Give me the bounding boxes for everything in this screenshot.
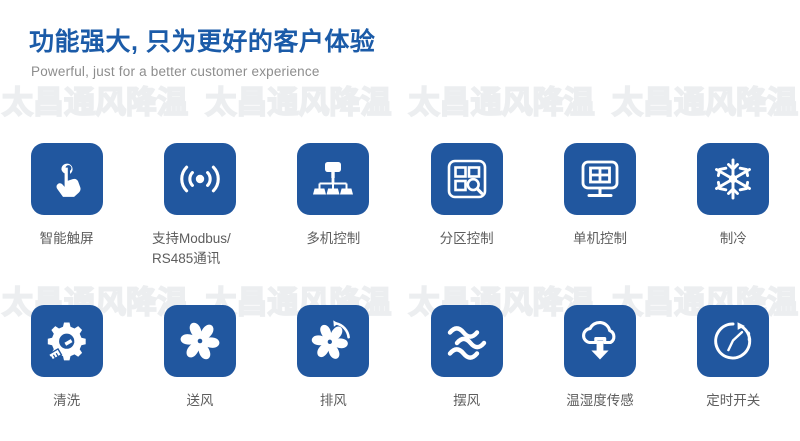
feature-label: 送风 bbox=[140, 391, 260, 411]
feature-tile[interactable] bbox=[164, 143, 236, 215]
feature-label: 单机控制 bbox=[540, 229, 660, 249]
feature-label: 定时开关 bbox=[673, 391, 793, 411]
network-tree-icon bbox=[310, 157, 356, 201]
fan-blades-icon bbox=[176, 317, 224, 365]
feature-item-temp-humidity-sensor[interactable]: 温湿度传感 bbox=[533, 305, 666, 411]
feature-tile[interactable] bbox=[564, 305, 636, 377]
wave-lines-icon bbox=[443, 319, 491, 363]
touch-screen-icon bbox=[44, 156, 90, 202]
feature-tile[interactable] bbox=[31, 305, 103, 377]
feature-label: 支持Modbus/ RS485通讯 bbox=[152, 229, 248, 269]
feature-label-line-2: RS485通讯 bbox=[152, 251, 220, 266]
timer-clock-icon bbox=[709, 317, 757, 365]
feature-item-multi-unit-control[interactable]: 多机控制 bbox=[267, 143, 400, 269]
watermark-text: 太昌通风降温 bbox=[205, 84, 391, 122]
feature-label: 排风 bbox=[273, 391, 393, 411]
feature-item-air-supply[interactable]: 送风 bbox=[133, 305, 266, 411]
feature-label: 多机控制 bbox=[273, 229, 393, 249]
display-monitor-icon bbox=[576, 156, 624, 202]
feature-label: 制冷 bbox=[673, 229, 793, 249]
page-subtitle: Powerful, just for a better customer exp… bbox=[31, 62, 375, 82]
feature-tile[interactable] bbox=[431, 305, 503, 377]
feature-item-timer-switch[interactable]: 定时开关 bbox=[667, 305, 800, 411]
feature-tile[interactable] bbox=[31, 143, 103, 215]
feature-item-zone-control[interactable]: 分区控制 bbox=[400, 143, 533, 269]
watermark-row-top: 太昌通风降温 太昌通风降温 太昌通风降温 太昌通风降温 bbox=[0, 84, 800, 122]
feature-grid-row-2: 清洗 送风 bbox=[0, 305, 800, 411]
zone-grid-search-icon bbox=[443, 155, 491, 203]
feature-tile[interactable] bbox=[297, 305, 369, 377]
feature-label: 摆风 bbox=[407, 391, 527, 411]
feature-item-exhaust[interactable]: 排风 bbox=[267, 305, 400, 411]
page-header: 功能强大, 只为更好的客户体验 Powerful, just for a bet… bbox=[29, 26, 375, 82]
feature-item-touch-screen[interactable]: 智能触屏 bbox=[0, 143, 133, 269]
gear-brush-icon bbox=[43, 317, 91, 365]
feature-highlights-page: 太昌通风降温 太昌通风降温 太昌通风降温 太昌通风降温 太昌通风降温 太昌通风降… bbox=[0, 0, 800, 441]
wireless-signal-icon bbox=[176, 159, 224, 199]
feature-item-swing[interactable]: 摆风 bbox=[400, 305, 533, 411]
feature-tile[interactable] bbox=[564, 143, 636, 215]
exhaust-fan-icon bbox=[309, 317, 357, 365]
page-title: 功能强大, 只为更好的客户体验 bbox=[29, 26, 375, 58]
feature-item-single-unit-control[interactable]: 单机控制 bbox=[533, 143, 666, 269]
feature-tile[interactable] bbox=[697, 143, 769, 215]
feature-tile[interactable] bbox=[164, 305, 236, 377]
feature-item-modbus[interactable]: 支持Modbus/ RS485通讯 bbox=[133, 143, 266, 269]
feature-item-cooling[interactable]: 制冷 bbox=[667, 143, 800, 269]
feature-tile[interactable] bbox=[297, 143, 369, 215]
feature-label: 智能触屏 bbox=[7, 229, 127, 249]
cloud-arrow-down-icon bbox=[576, 318, 624, 364]
snowflake-icon bbox=[709, 155, 757, 203]
watermark-text: 太昌通风降温 bbox=[409, 84, 595, 122]
feature-tile[interactable] bbox=[697, 305, 769, 377]
watermark-text: 太昌通风降温 bbox=[612, 84, 798, 122]
feature-grid-row-1: 智能触屏 支持Modbus/ RS485通讯 bbox=[0, 143, 800, 269]
watermark-text: 太昌通风降温 bbox=[2, 84, 188, 122]
feature-label: 分区控制 bbox=[407, 229, 527, 249]
feature-label: 清洗 bbox=[7, 391, 127, 411]
feature-tile[interactable] bbox=[431, 143, 503, 215]
feature-label-line-1: 支持Modbus/ bbox=[152, 231, 231, 246]
feature-item-cleaning[interactable]: 清洗 bbox=[0, 305, 133, 411]
feature-label: 温湿度传感 bbox=[540, 391, 660, 411]
